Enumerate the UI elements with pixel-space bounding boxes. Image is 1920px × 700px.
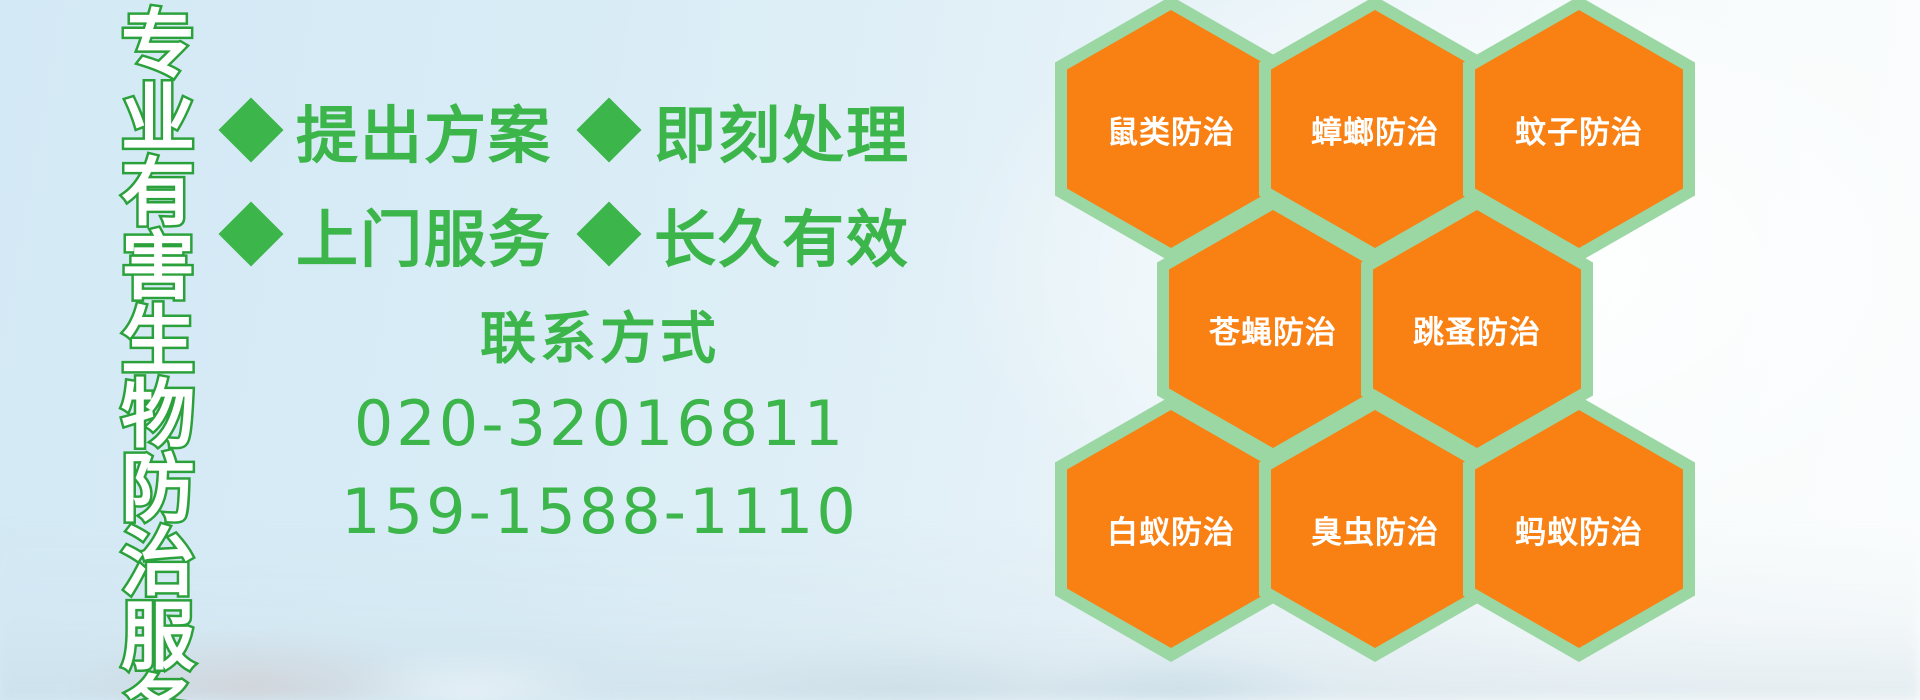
hex-inner: 蟑螂防治: [1271, 10, 1479, 248]
service-label: 跳蚤防治: [1413, 307, 1541, 352]
service-label: 苍蝇防治: [1209, 307, 1337, 352]
hex-inner: 蚂蚁防治: [1475, 410, 1683, 648]
vertical-headline-char: 务: [121, 674, 195, 700]
hex-inner: 跳蚤防治: [1373, 210, 1581, 448]
service-honeycomb: 鼠类防治 蟑螂防治 蚊子防治 苍蝇防治 跳蚤防治 白蚁防治: [1055, 0, 1795, 690]
feature-list: 提出方案 即刻处理 上门服务 长久有效: [228, 78, 868, 286]
hex-inner: 臭虫防治: [1271, 410, 1479, 648]
service-label: 蚊子防治: [1515, 107, 1643, 152]
diamond-icon: [218, 97, 283, 162]
hex-inner: 蚊子防治: [1475, 10, 1683, 248]
diamond-icon: [218, 201, 283, 266]
contact-title: 联系方式: [300, 300, 900, 380]
service-label: 蚂蚁防治: [1515, 507, 1643, 552]
feature-row: 上门服务 长久有效: [228, 182, 868, 286]
diamond-icon: [576, 97, 641, 162]
service-label: 臭虫防治: [1311, 507, 1439, 552]
vertical-headline-char: 防: [121, 452, 195, 526]
vertical-headline-char: 物: [121, 378, 195, 452]
vertical-headline-char: 服: [121, 600, 195, 674]
service-label: 鼠类防治: [1107, 107, 1235, 152]
feature-label: 即刻处理: [654, 85, 910, 175]
vertical-headline-char: 治: [121, 526, 195, 600]
contact-block: 联系方式 020-32016811 159-1588-1110: [300, 300, 900, 556]
vertical-headline-char: 专: [121, 8, 195, 82]
phone-number-mobile[interactable]: 159-1588-1110: [300, 468, 900, 556]
feature-row: 提出方案 即刻处理: [228, 78, 868, 182]
feature-label: 上门服务: [296, 189, 552, 279]
service-label: 蟑螂防治: [1311, 107, 1439, 152]
hex-inner: 白蚁防治: [1067, 410, 1275, 648]
vertical-headline-char: 业: [121, 82, 195, 156]
vertical-headline-char: 有: [121, 156, 195, 230]
feature-label: 长久有效: [654, 189, 910, 279]
phone-number-landline[interactable]: 020-32016811: [300, 380, 900, 468]
pest-control-banner: 专 业 有 害 生 物 防 治 服 务 提出方案 即刻处理 上门服务 长久有效 …: [0, 0, 1920, 700]
service-label: 白蚁防治: [1107, 507, 1235, 552]
diamond-icon: [576, 201, 641, 266]
hex-inner: 苍蝇防治: [1169, 210, 1377, 448]
vertical-headline: 专 业 有 害 生 物 防 治 服 务: [112, 8, 204, 698]
hex-inner: 鼠类防治: [1067, 10, 1275, 248]
feature-label: 提出方案: [296, 85, 552, 175]
vertical-headline-char: 害: [121, 230, 195, 304]
vertical-headline-char: 生: [121, 304, 195, 378]
